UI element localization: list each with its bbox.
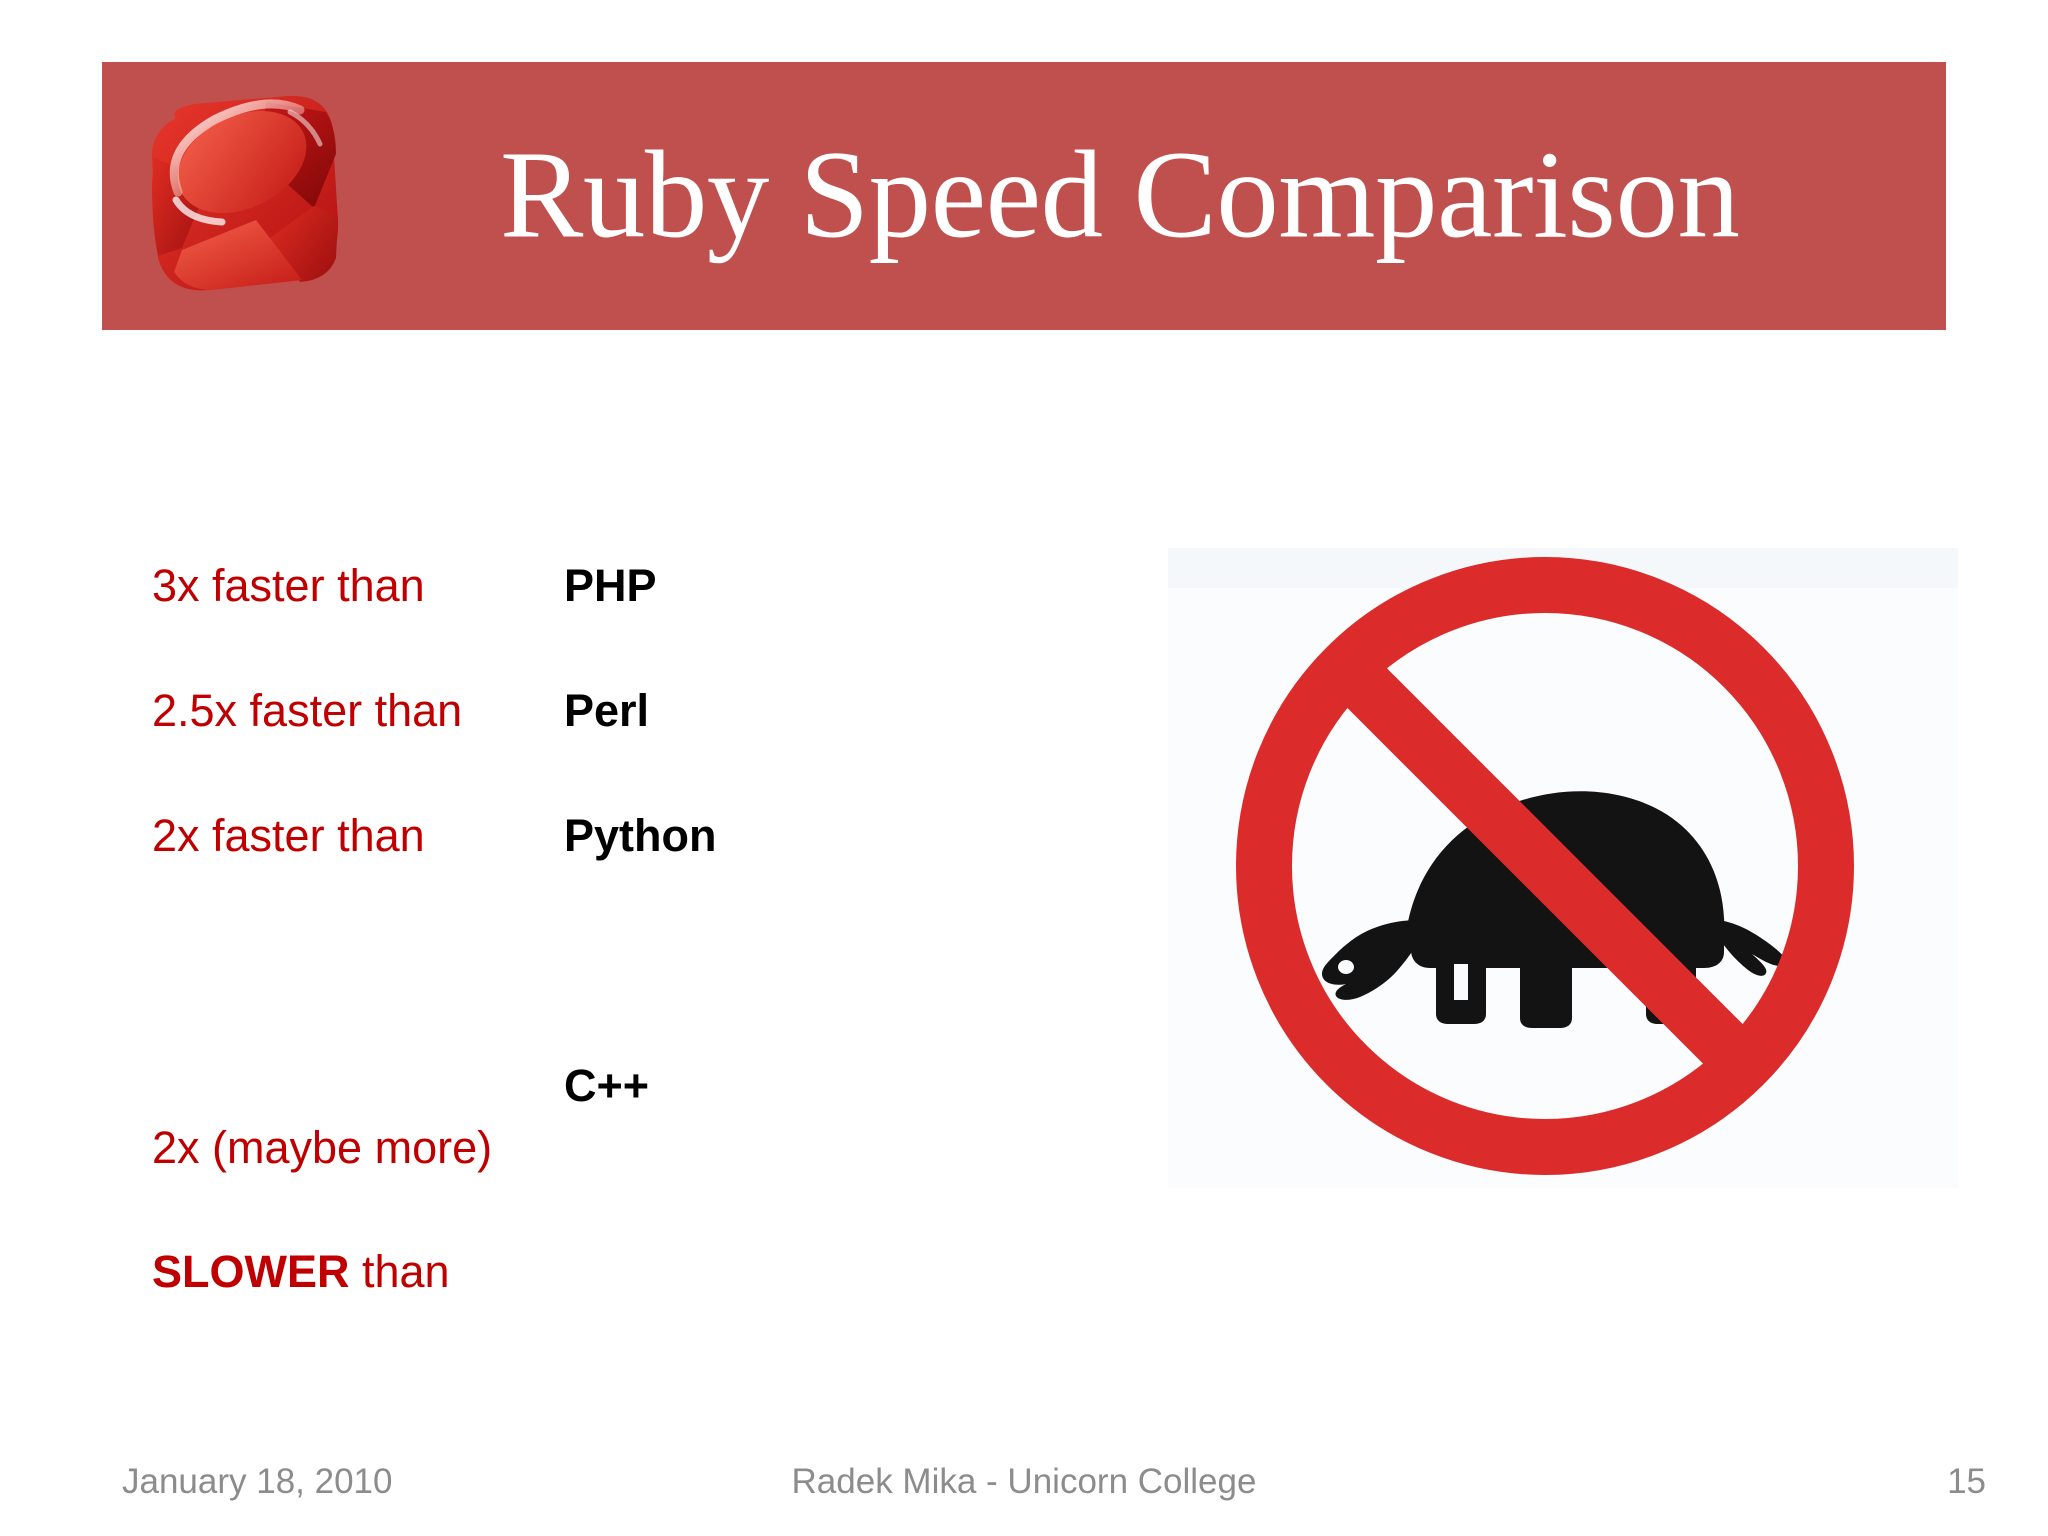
page-title: Ruby Speed Comparison [500,132,1739,260]
comparison-measure-perl: 2.5x faster than [152,680,572,742]
comparison-row-python: 2x faster than Python [152,805,1052,1055]
comparison-row-cpp: 2x (maybe more) SLOWER than C++ [152,1055,1052,1215]
slide-canvas: Ruby Speed Comparison 3x faster than PHP… [0,0,2048,1536]
comparison-row-php: 3x faster than PHP [152,555,1052,680]
comparison-language-python: Python [564,805,717,867]
comparison-row-perl: 2.5x faster than Perl [152,680,1052,805]
comparison-measure-cpp-line1: 2x (maybe more) [152,1122,492,1173]
comparison-measure-cpp-line2-rest: than [350,1246,450,1297]
comparison-measure-cpp: 2x (maybe more) SLOWER than [152,1055,572,1303]
title-banner: Ruby Speed Comparison [102,62,1946,330]
comparison-language-perl: Perl [564,680,649,742]
comparison-measure-python: 2x faster than [152,805,572,867]
footer-page-number: 15 [1947,1452,1986,1512]
footer-author: Radek Mika - Unicorn College [0,1452,2048,1512]
comparison-measure-php: 3x faster than [152,555,572,617]
speed-comparison-list: 3x faster than PHP 2.5x faster than Perl… [152,555,1052,1215]
comparison-language-php: PHP [564,555,657,617]
slide-footer: January 18, 2010 Radek Mika - Unicorn Co… [0,1452,2048,1512]
no-turtle-sign-image [1168,548,1958,1188]
comparison-measure-cpp-emphasis: SLOWER [152,1246,350,1297]
comparison-language-cpp: C++ [564,1055,649,1117]
ruby-gem-logo-icon [138,88,350,300]
